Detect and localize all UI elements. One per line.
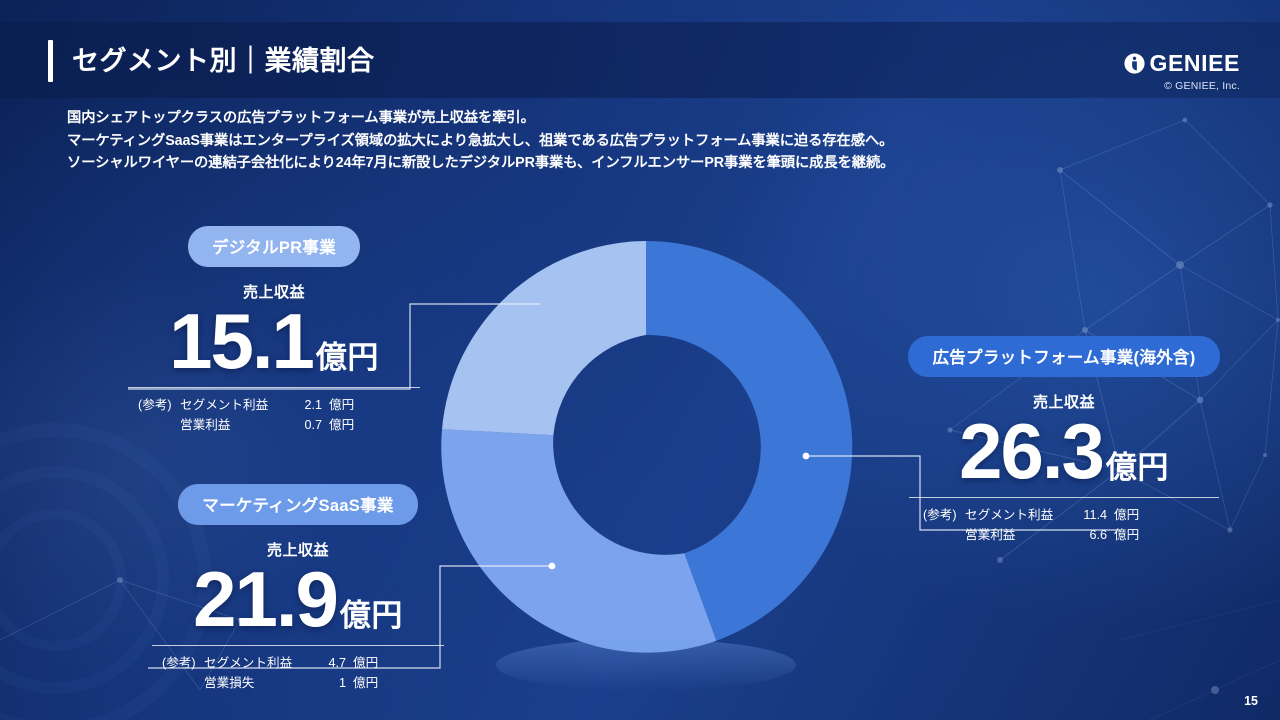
detail-label: 営業損失 bbox=[204, 673, 308, 693]
value-marketing-saas: 21.9 bbox=[193, 562, 337, 637]
lead-line-2: マーケティングSaaS事業はエンタープライズ領域の拡大により急拡大し、祖業である… bbox=[67, 130, 894, 153]
logo-wordmark: GENIEE bbox=[1149, 52, 1240, 75]
detail-row: (参考) セグメント利益 11.4 億円 bbox=[923, 505, 1223, 525]
value-digital-pr: 15.1 bbox=[169, 304, 313, 379]
geniee-circle-logo-icon bbox=[1124, 53, 1145, 74]
unit-marketing-saas: 億円 bbox=[340, 590, 403, 635]
detail-label: セグメント利益 bbox=[204, 653, 308, 673]
lead-line-3: ソーシャルワイヤーの連結子会社化により24年7月に新設したデジタルPR事業も、イ… bbox=[67, 152, 894, 175]
detail-row: 営業利益 0.7 億円 bbox=[138, 415, 424, 435]
segment-pill-digital-pr[interactable]: デジタルPR事業 bbox=[188, 226, 360, 267]
detail-label: 営業利益 bbox=[180, 415, 284, 435]
detail-ref bbox=[923, 525, 965, 545]
detail-ref: (参考) bbox=[162, 653, 204, 673]
page-number: 15 bbox=[1244, 694, 1258, 708]
detail-label: セグメント利益 bbox=[965, 505, 1069, 525]
detail-ref bbox=[138, 415, 180, 435]
divider-ad-platform bbox=[909, 497, 1219, 498]
detail-unit: 億円 bbox=[322, 395, 363, 415]
detail-row: (参考) セグメント利益 2.1 億円 bbox=[138, 395, 424, 415]
detail-unit: 億円 bbox=[1107, 505, 1148, 525]
company-logo: GENIEE © GENIEE, Inc. bbox=[1124, 52, 1240, 92]
details-ad-platform: (参考) セグメント利益 11.4 億円 営業利益 6.6 億円 bbox=[905, 505, 1223, 545]
detail-value: 2.1 bbox=[284, 395, 322, 415]
lead-line-1: 国内シェアトップクラスの広告プラットフォーム事業が売上収益を牽引。 bbox=[67, 107, 894, 130]
donut-slice-marketing-saas bbox=[441, 429, 716, 652]
unit-digital-pr: 億円 bbox=[316, 332, 379, 377]
detail-unit: 億円 bbox=[1107, 525, 1148, 545]
title-text: セグメント別｜業績割合 bbox=[72, 48, 375, 75]
segment-donut-chart bbox=[403, 225, 893, 695]
segment-pill-ad-platform[interactable]: 広告プラットフォーム事業(海外含) bbox=[908, 336, 1219, 377]
lead-paragraph: 国内シェアトップクラスの広告プラットフォーム事業が売上収益を牽引。 マーケティン… bbox=[67, 107, 894, 175]
divider-marketing-saas bbox=[152, 645, 444, 646]
detail-value: 11.4 bbox=[1069, 505, 1107, 525]
detail-label: 営業利益 bbox=[965, 525, 1069, 545]
detail-row: (参考) セグメント利益 4.7 億円 bbox=[162, 653, 448, 673]
detail-value: 1 bbox=[308, 673, 346, 693]
callout-digital-pr: デジタルPR事業 売上収益 15.1 億円 (参考) セグメント利益 2.1 億… bbox=[124, 226, 424, 435]
detail-value: 4.7 bbox=[308, 653, 346, 673]
details-digital-pr: (参考) セグメント利益 2.1 億円 営業利益 0.7 億円 bbox=[124, 395, 424, 435]
slide: セグメント別｜業績割合 GENIEE © GENIEE, Inc. 国内シェアト… bbox=[0, 0, 1280, 720]
detail-label: セグメント利益 bbox=[180, 395, 284, 415]
segment-pill-marketing-saas[interactable]: マーケティングSaaS事業 bbox=[178, 484, 417, 525]
detail-ref bbox=[162, 673, 204, 693]
detail-row: 営業利益 6.6 億円 bbox=[923, 525, 1223, 545]
donut-reflection bbox=[496, 639, 796, 691]
donut-slice-digital-pr bbox=[442, 241, 646, 435]
detail-unit: 億円 bbox=[346, 653, 387, 673]
value-ad-platform: 26.3 bbox=[959, 414, 1103, 489]
logo-copyright: © GENIEE, Inc. bbox=[1124, 80, 1240, 92]
detail-unit: 億円 bbox=[346, 673, 387, 693]
detail-unit: 億円 bbox=[322, 415, 363, 435]
detail-value: 6.6 bbox=[1069, 525, 1107, 545]
callout-ad-platform: 広告プラットフォーム事業(海外含) 売上収益 26.3 億円 (参考) セグメン… bbox=[905, 336, 1223, 545]
callout-marketing-saas: マーケティングSaaS事業 売上収益 21.9 億円 (参考) セグメント利益 … bbox=[148, 484, 448, 693]
detail-value: 0.7 bbox=[284, 415, 322, 435]
details-marketing-saas: (参考) セグメント利益 4.7 億円 営業損失 1 億円 bbox=[148, 653, 448, 693]
page-title: セグメント別｜業績割合 bbox=[48, 40, 375, 82]
detail-ref: (参考) bbox=[923, 505, 965, 525]
detail-row: 営業損失 1 億円 bbox=[162, 673, 448, 693]
divider-digital-pr bbox=[128, 387, 420, 388]
title-accent-bar bbox=[48, 40, 53, 82]
unit-ad-platform: 億円 bbox=[1106, 442, 1169, 487]
detail-ref: (参考) bbox=[138, 395, 180, 415]
